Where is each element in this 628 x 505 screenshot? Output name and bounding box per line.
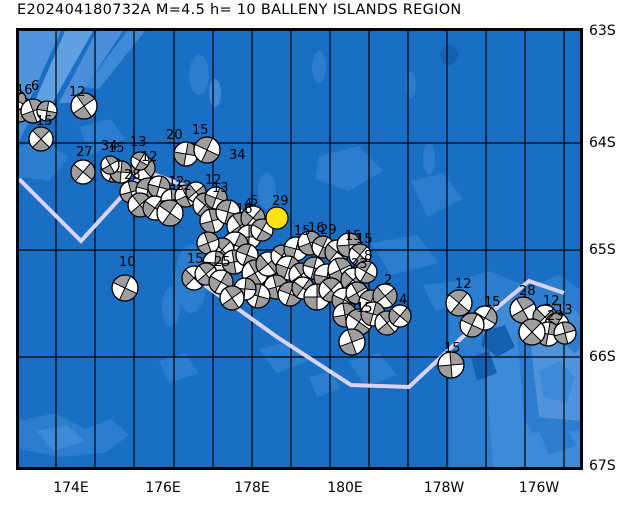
event-day-label: 6 bbox=[31, 79, 39, 94]
event-day-label: 15 bbox=[187, 252, 204, 267]
event-day-label: 10 bbox=[119, 255, 136, 270]
map-plot-frame[interactable]: 1661512273415132812201534121312121652941… bbox=[16, 28, 583, 470]
y-tick-label: 64S bbox=[589, 135, 616, 151]
event-day-label: 28 bbox=[124, 168, 141, 183]
map-inner: 1661512273415132812201534121312121652941… bbox=[19, 31, 580, 467]
x-tick-label: 176E bbox=[145, 480, 181, 496]
x-tick-label: 178W bbox=[424, 480, 465, 496]
event-day-label: 8 bbox=[364, 249, 372, 264]
event-day-label: 15 bbox=[36, 114, 53, 129]
event-day-label: 28 bbox=[519, 284, 536, 299]
main-event-marker[interactable] bbox=[266, 207, 288, 229]
event-day-label: 25 bbox=[214, 255, 231, 270]
focal-mechanism-layer[interactable]: 1661512273415132812201534121312121652941… bbox=[19, 31, 580, 467]
event-day-label: 29 bbox=[272, 194, 289, 209]
event-day-label: 15 bbox=[484, 295, 501, 310]
event-day-label: 27 bbox=[76, 145, 93, 160]
event-day-label: 13 bbox=[212, 181, 229, 196]
event-day-label: 15 bbox=[108, 141, 125, 156]
event-day-label: 13 bbox=[130, 135, 147, 150]
page-title: E202404180732A M=4.5 h= 10 BALLENY ISLAN… bbox=[17, 2, 462, 18]
event-day-label: 34 bbox=[229, 148, 246, 163]
event-day-label: 20 bbox=[166, 128, 183, 143]
y-tick-label: 65S bbox=[589, 242, 616, 258]
x-tick-label: 174E bbox=[53, 480, 89, 496]
map-page: E202404180732A M=4.5 h= 10 BALLENY ISLAN… bbox=[0, 0, 628, 505]
event-day-label: 15 bbox=[192, 123, 209, 138]
x-tick-label: 178E bbox=[234, 480, 270, 496]
event-day-label: 2 bbox=[384, 273, 392, 288]
event-day-label: 4 bbox=[399, 293, 407, 308]
y-tick-label: 67S bbox=[589, 458, 616, 474]
event-day-label: 15 bbox=[444, 341, 461, 356]
y-tick-label: 66S bbox=[589, 349, 616, 365]
y-tick-label: 63S bbox=[589, 23, 616, 39]
event-day-label: 23 bbox=[547, 309, 564, 324]
event-day-label: 12 bbox=[175, 179, 192, 194]
event-day-label: 29 bbox=[320, 223, 337, 238]
event-day-label: 4 bbox=[244, 197, 252, 212]
event-day-label: 12 bbox=[455, 277, 472, 292]
event-day-label: 12 bbox=[69, 85, 86, 100]
event-day-label: 15 bbox=[356, 232, 373, 247]
event-day-label: 15 bbox=[356, 301, 373, 316]
event-day-label: 12 bbox=[141, 150, 158, 165]
x-tick-label: 176W bbox=[519, 480, 560, 496]
x-tick-label: 180E bbox=[327, 480, 363, 496]
